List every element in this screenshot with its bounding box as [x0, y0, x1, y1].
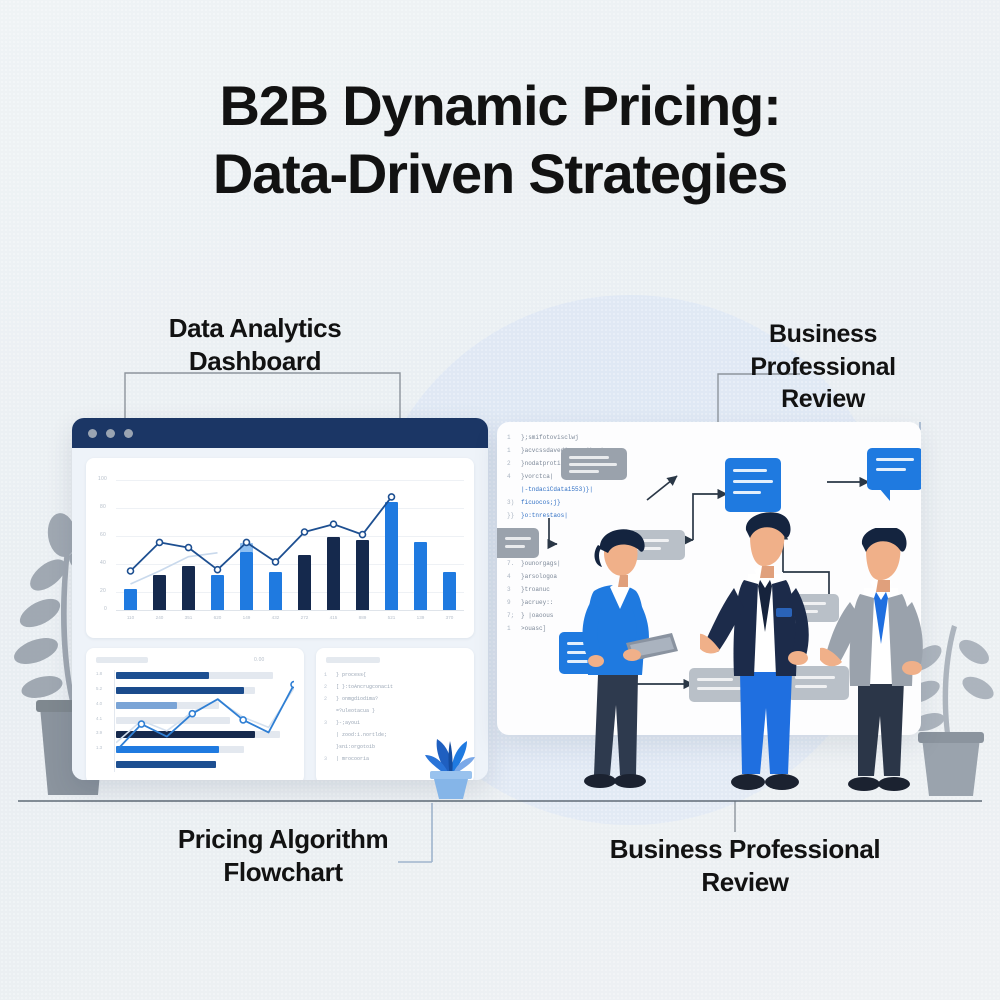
hline-marker-3: [189, 711, 195, 717]
callout-flowchart-line-1: Pricing Algorithm: [138, 823, 428, 856]
code-left-number-7: 3: [324, 756, 327, 762]
y-tick-40: 40: [100, 560, 106, 566]
code-left-line-7: | mrocooria: [336, 756, 369, 762]
code-left-line-6: }sni:orgotoib: [336, 744, 375, 750]
callout-review-bottom-line-1: Business Professional: [580, 833, 910, 866]
y-tick-0: 0: [104, 606, 107, 612]
code-panel-header: [326, 657, 380, 663]
chat-bubble-tail: [879, 488, 890, 501]
line-marker-0: [128, 568, 134, 574]
window-dot-2[interactable]: [106, 429, 115, 438]
hline-marker-1: [138, 721, 144, 727]
x-tick-110: 110: [120, 615, 142, 620]
bars-panel-corner-label: 0.00: [254, 657, 265, 663]
callout-business-professional-review-bottom: Business Professional Review: [580, 833, 910, 900]
code-left-line-2: } onmgdiodima?: [336, 696, 378, 702]
flow-node-1[interactable]: [561, 448, 627, 480]
code-left-line-3: =?uleotacua }: [336, 708, 375, 714]
callout-pricing-algorithm-flowchart: Pricing Algorithm Flowchart: [138, 823, 428, 890]
x-tick-889: 889: [352, 615, 374, 620]
hbar-label-1: 5.2: [96, 686, 102, 691]
callout-review-top-line-2: Professional: [733, 351, 913, 384]
bars-panel-header: [96, 657, 148, 663]
callout-review-top-line-1: Business: [733, 318, 913, 351]
flow-node-2[interactable]: [497, 528, 539, 558]
flow-node-3[interactable]: [725, 458, 781, 512]
chart-line-overlay: [116, 480, 464, 610]
window-titlebar: [72, 418, 488, 448]
hbar-label-5: 1.3: [96, 745, 102, 750]
callout-dashboard-line-2: Dashboard: [120, 345, 390, 378]
callout-dashboard-line-1: Data Analytics: [120, 312, 390, 345]
hbar-label-2: 4.0: [96, 701, 102, 706]
x-tick-432: 432: [265, 615, 287, 620]
line-marker-9: [389, 494, 395, 500]
business-man-gray-suit: [820, 528, 940, 808]
hline-marker-5: [240, 717, 246, 723]
line-marker-5: [273, 559, 279, 565]
callout-data-analytics-dashboard: Data Analytics Dashboard: [120, 312, 390, 379]
bars-panel-line-overlay: [116, 670, 294, 774]
x-tick-272: 272: [294, 615, 316, 620]
x-tick-240: 240: [149, 615, 171, 620]
x-tick-370: 370: [439, 615, 461, 620]
code-left-line-0: } process{: [336, 672, 366, 678]
code-left-number-2: 2: [324, 696, 327, 702]
line-marker-6: [302, 529, 308, 535]
y-tick-80: 80: [100, 504, 106, 510]
code-left-number-4: 3: [324, 720, 327, 726]
flow-node-chat-bubble[interactable]: [867, 448, 921, 490]
code-left-number-1: 2: [324, 684, 327, 690]
code-left-line-4: }-;ayoui: [336, 720, 360, 726]
x-tick-139: 139: [410, 615, 432, 620]
line-marker-7: [331, 521, 337, 527]
code-left-line-5: | zood:i.nortlde;: [336, 732, 387, 738]
callout-review-top-line-3: Review: [733, 383, 913, 416]
x-tick-149: 149: [236, 615, 258, 620]
horizontal-bars-panel[interactable]: 0.00 1.85.24.04.13.91.3: [86, 648, 304, 780]
hbar-label-4: 3.9: [96, 730, 102, 735]
x-tick-351: 351: [178, 615, 200, 620]
line-marker-1: [157, 539, 163, 545]
hbar-label-0: 1.8: [96, 671, 102, 676]
x-tick-620: 620: [207, 615, 229, 620]
x-tick-415: 415: [323, 615, 345, 620]
code-left-line-1: [ }:toAncrugconacit: [336, 684, 393, 690]
callout-business-professional-review-top: Business Professional Review: [733, 318, 913, 416]
business-woman-with-tablet: [560, 525, 680, 810]
line-marker-3: [215, 567, 221, 573]
connector-dashboard: [125, 373, 400, 420]
y-tick-60: 60: [100, 532, 106, 538]
x-tick-521: 521: [381, 615, 403, 620]
line-marker-8: [360, 532, 366, 538]
window-dot-1[interactable]: [88, 429, 97, 438]
y-tick-20: 20: [100, 588, 106, 594]
hbar-label-3: 4.1: [96, 716, 102, 721]
hline-marker-7: [291, 682, 294, 688]
callout-flowchart-line-2: Flowchart: [138, 856, 428, 889]
horizontal-bar-labels: 1.85.24.04.13.91.3: [92, 670, 116, 774]
bar-chart: 100 80 60 40 20 0 1102403516201494322724…: [86, 458, 474, 638]
plant-small-blue: [415, 725, 485, 803]
y-tick-100: 100: [98, 476, 107, 482]
bar-chart-card[interactable]: 100 80 60 40 20 0 1102403516201494322724…: [86, 458, 474, 638]
callout-review-bottom-line-2: Review: [580, 866, 910, 899]
business-man-navy-suit: [700, 512, 830, 810]
line-marker-2: [186, 545, 192, 551]
infographic-canvas: B2B Dynamic Pricing: Data-Driven Strateg…: [0, 0, 1000, 1000]
code-left-number-0: 1: [324, 672, 327, 678]
window-dot-3[interactable]: [124, 429, 133, 438]
line-marker-4: [244, 539, 250, 545]
